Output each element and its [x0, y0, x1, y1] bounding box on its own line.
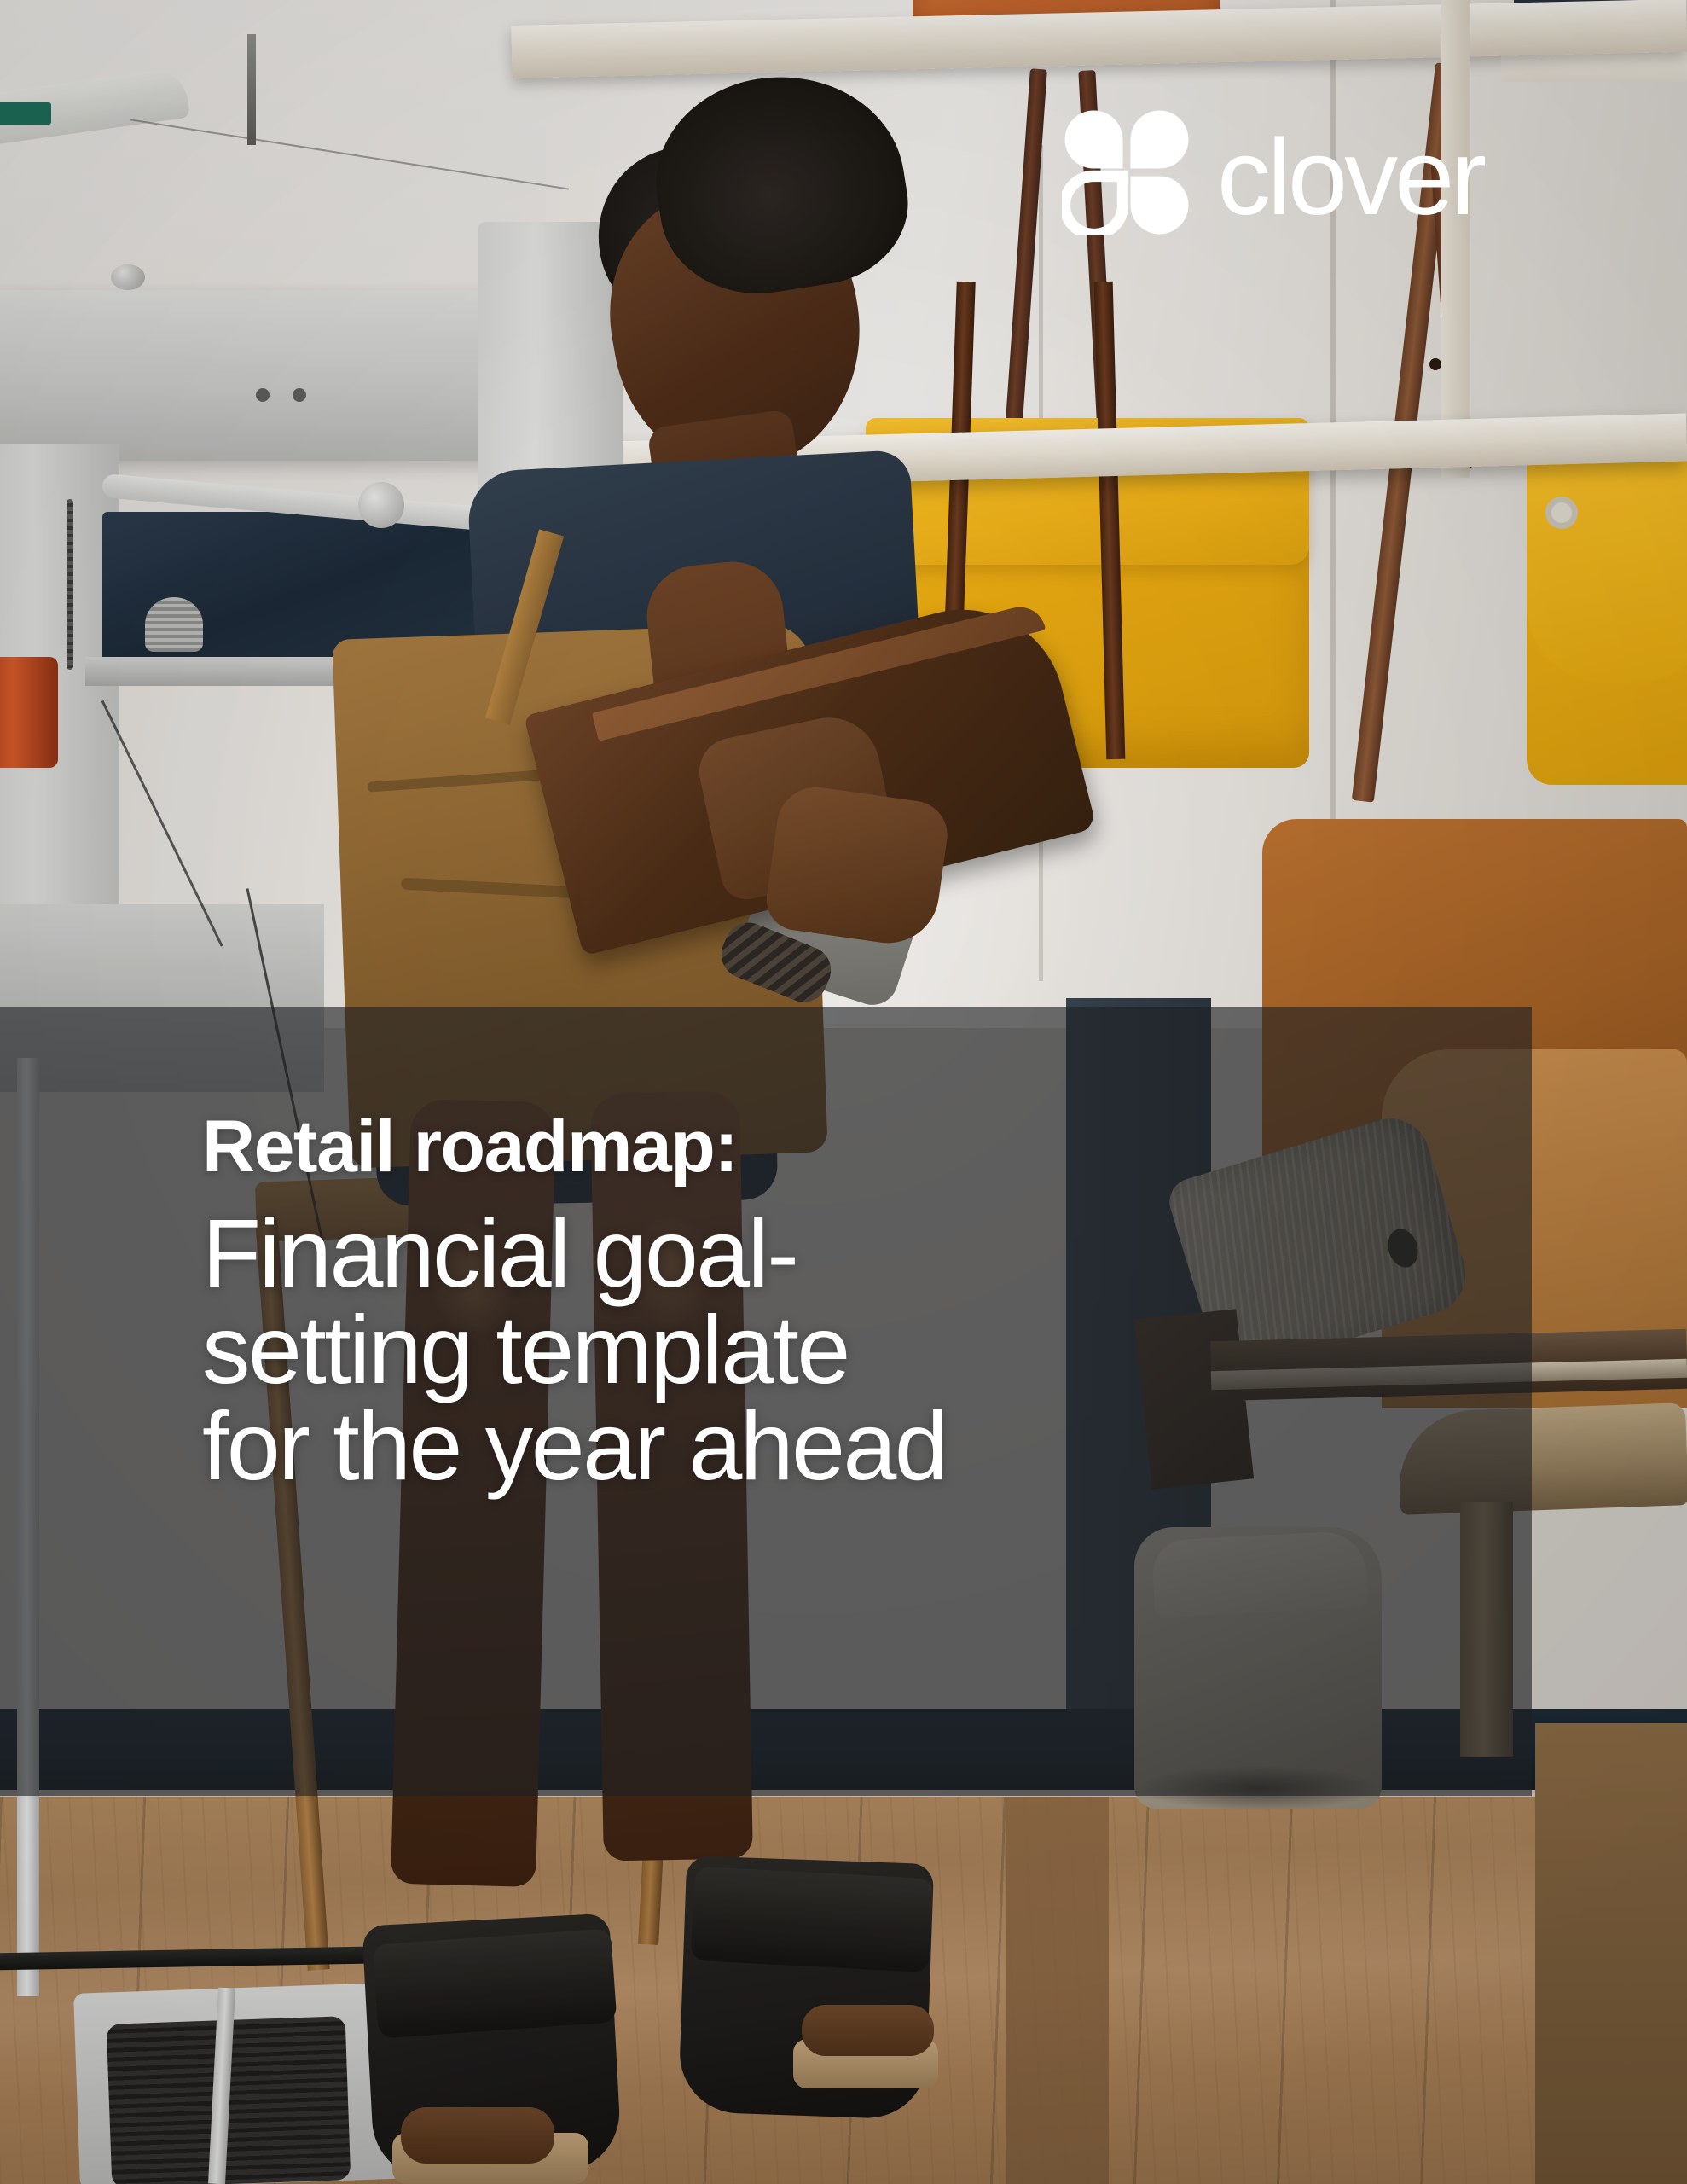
headline-line-3: for the year ahead: [202, 1398, 1396, 1495]
clover-mark-icon: [1062, 109, 1191, 235]
cover-eyebrow: Retail roadmap:: [202, 1109, 1396, 1185]
headline-line-1: Financial goal-: [202, 1205, 1396, 1302]
cover-title-block: Retail roadmap: Financial goal- setting …: [202, 1109, 1396, 1495]
cover-page: clover Retail roadmap: Financial goal- s…: [0, 0, 1687, 2184]
clover-logo: clover: [1062, 109, 1483, 235]
headline-line-2: setting template: [202, 1302, 1396, 1398]
clover-wordmark: clover: [1217, 124, 1483, 231]
cover-headline: Financial goal- setting template for the…: [202, 1205, 1396, 1495]
